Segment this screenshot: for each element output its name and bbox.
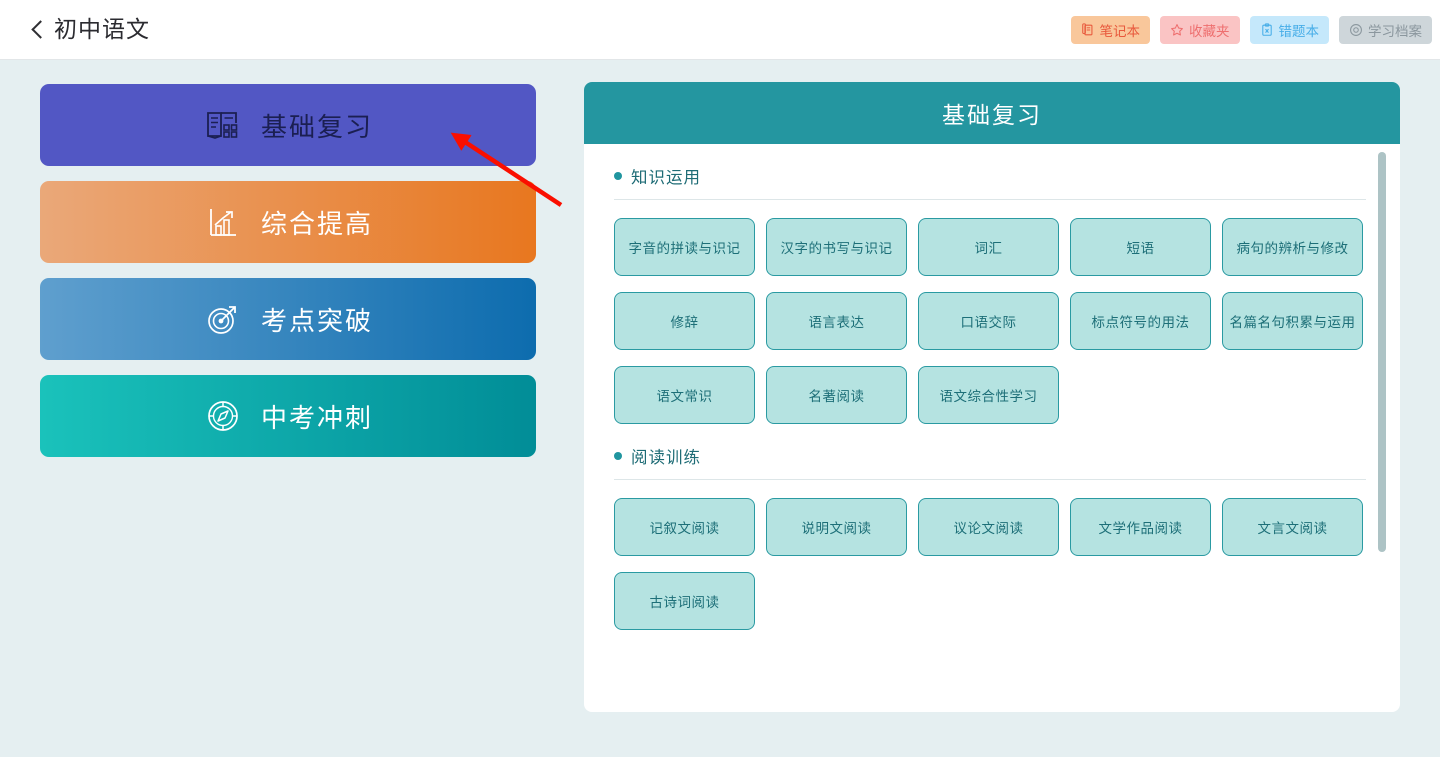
back-button[interactable]: 初中语文 <box>30 0 150 59</box>
topic-chip[interactable]: 口语交际 <box>918 292 1059 350</box>
topic-chip[interactable]: 汉字的书写与识记 <box>766 218 907 276</box>
content-card: 基础复习 知识运用 字音的拼读与识记 汉字的书写与识记 词汇 短语 病句的辨析与… <box>584 82 1400 712</box>
bar-chart-up-icon <box>203 202 243 242</box>
topic-chip[interactable]: 语言表达 <box>766 292 907 350</box>
category-sidebar: 基础复习 综合提高 考点突破 <box>40 84 536 472</box>
target-circle-icon <box>1349 23 1363 37</box>
card-body: 知识运用 字音的拼读与识记 汉字的书写与识记 词汇 短语 病句的辨析与修改 修辞… <box>584 144 1400 712</box>
notebook-label: 笔记本 <box>1100 20 1141 40</box>
chevron-left-icon <box>30 19 44 41</box>
bullet-icon <box>614 172 622 180</box>
topic-chip[interactable]: 词汇 <box>918 218 1059 276</box>
topic-chip[interactable]: 语文综合性学习 <box>918 366 1059 424</box>
sidebar-item-exam-sprint[interactable]: 中考冲刺 <box>40 375 536 457</box>
topic-chip[interactable]: 修辞 <box>614 292 755 350</box>
chip-grid: 字音的拼读与识记 汉字的书写与识记 词汇 短语 病句的辨析与修改 修辞 语言表达… <box>614 218 1366 424</box>
topic-chip[interactable]: 标点符号的用法 <box>1070 292 1211 350</box>
section-header: 阅读训练 <box>614 444 1366 480</box>
sidebar-item-label: 中考冲刺 <box>261 398 373 435</box>
top-bar: 初中语文 笔记本 收藏夹 <box>0 0 1440 60</box>
clipboard-x-icon <box>1260 23 1274 37</box>
topic-chip[interactable]: 语文常识 <box>614 366 755 424</box>
sidebar-item-basic-review[interactable]: 基础复习 <box>40 84 536 166</box>
sidebar-item-comprehensive-improve[interactable]: 综合提高 <box>40 181 536 263</box>
scrollbar-thumb[interactable] <box>1378 152 1386 552</box>
wrong-book-button[interactable]: 错题本 <box>1250 16 1330 44</box>
top-actions: 笔记本 收藏夹 错题本 <box>1071 16 1433 44</box>
card-header: 基础复习 <box>584 82 1400 144</box>
sidebar-item-label: 综合提高 <box>261 204 373 241</box>
sidebar-item-label: 基础复习 <box>261 107 373 144</box>
chip-grid: 记叙文阅读 说明文阅读 议论文阅读 文学作品阅读 文言文阅读 古诗词阅读 <box>614 498 1366 630</box>
bullet-icon <box>614 452 622 460</box>
compass-icon <box>203 396 243 436</box>
page-title: 初中语文 <box>54 18 150 41</box>
topic-chip[interactable]: 古诗词阅读 <box>614 572 755 630</box>
star-icon <box>1170 23 1184 37</box>
topic-chip[interactable]: 病句的辨析与修改 <box>1222 218 1363 276</box>
sidebar-item-key-point-breakthrough[interactable]: 考点突破 <box>40 278 536 360</box>
favorites-label: 收藏夹 <box>1189 20 1230 40</box>
favorites-button[interactable]: 收藏夹 <box>1160 16 1240 44</box>
topic-chip[interactable]: 文言文阅读 <box>1222 498 1363 556</box>
study-archive-button[interactable]: 学习档案 <box>1339 16 1432 44</box>
section-reading-training: 阅读训练 记叙文阅读 说明文阅读 议论文阅读 文学作品阅读 文言文阅读 古诗词阅… <box>614 424 1366 630</box>
topic-chip[interactable]: 议论文阅读 <box>918 498 1059 556</box>
section-title: 知识运用 <box>631 164 701 188</box>
topic-chip[interactable]: 字音的拼读与识记 <box>614 218 755 276</box>
scrollbar-track[interactable] <box>1378 152 1386 704</box>
wrong-book-label: 错题本 <box>1279 20 1320 40</box>
notebook-button[interactable]: 笔记本 <box>1071 16 1151 44</box>
sidebar-item-label: 考点突破 <box>261 301 373 338</box>
topic-chip[interactable]: 记叙文阅读 <box>614 498 755 556</box>
topic-chip[interactable]: 文学作品阅读 <box>1070 498 1211 556</box>
topic-chip[interactable]: 短语 <box>1070 218 1211 276</box>
topic-chip[interactable]: 名篇名句积累与运用 <box>1222 292 1363 350</box>
topic-chip[interactable]: 说明文阅读 <box>766 498 907 556</box>
section-header: 知识运用 <box>614 164 1366 200</box>
study-archive-label: 学习档案 <box>1368 20 1422 40</box>
section-title: 阅读训练 <box>631 444 701 468</box>
topic-chip[interactable]: 名著阅读 <box>766 366 907 424</box>
open-book-grid-icon <box>203 105 243 145</box>
card-title: 基础复习 <box>942 96 1042 130</box>
notebook-icon <box>1081 23 1095 37</box>
section-knowledge-application: 知识运用 字音的拼读与识记 汉字的书写与识记 词汇 短语 病句的辨析与修改 修辞… <box>614 144 1366 424</box>
target-arrow-icon <box>203 299 243 339</box>
